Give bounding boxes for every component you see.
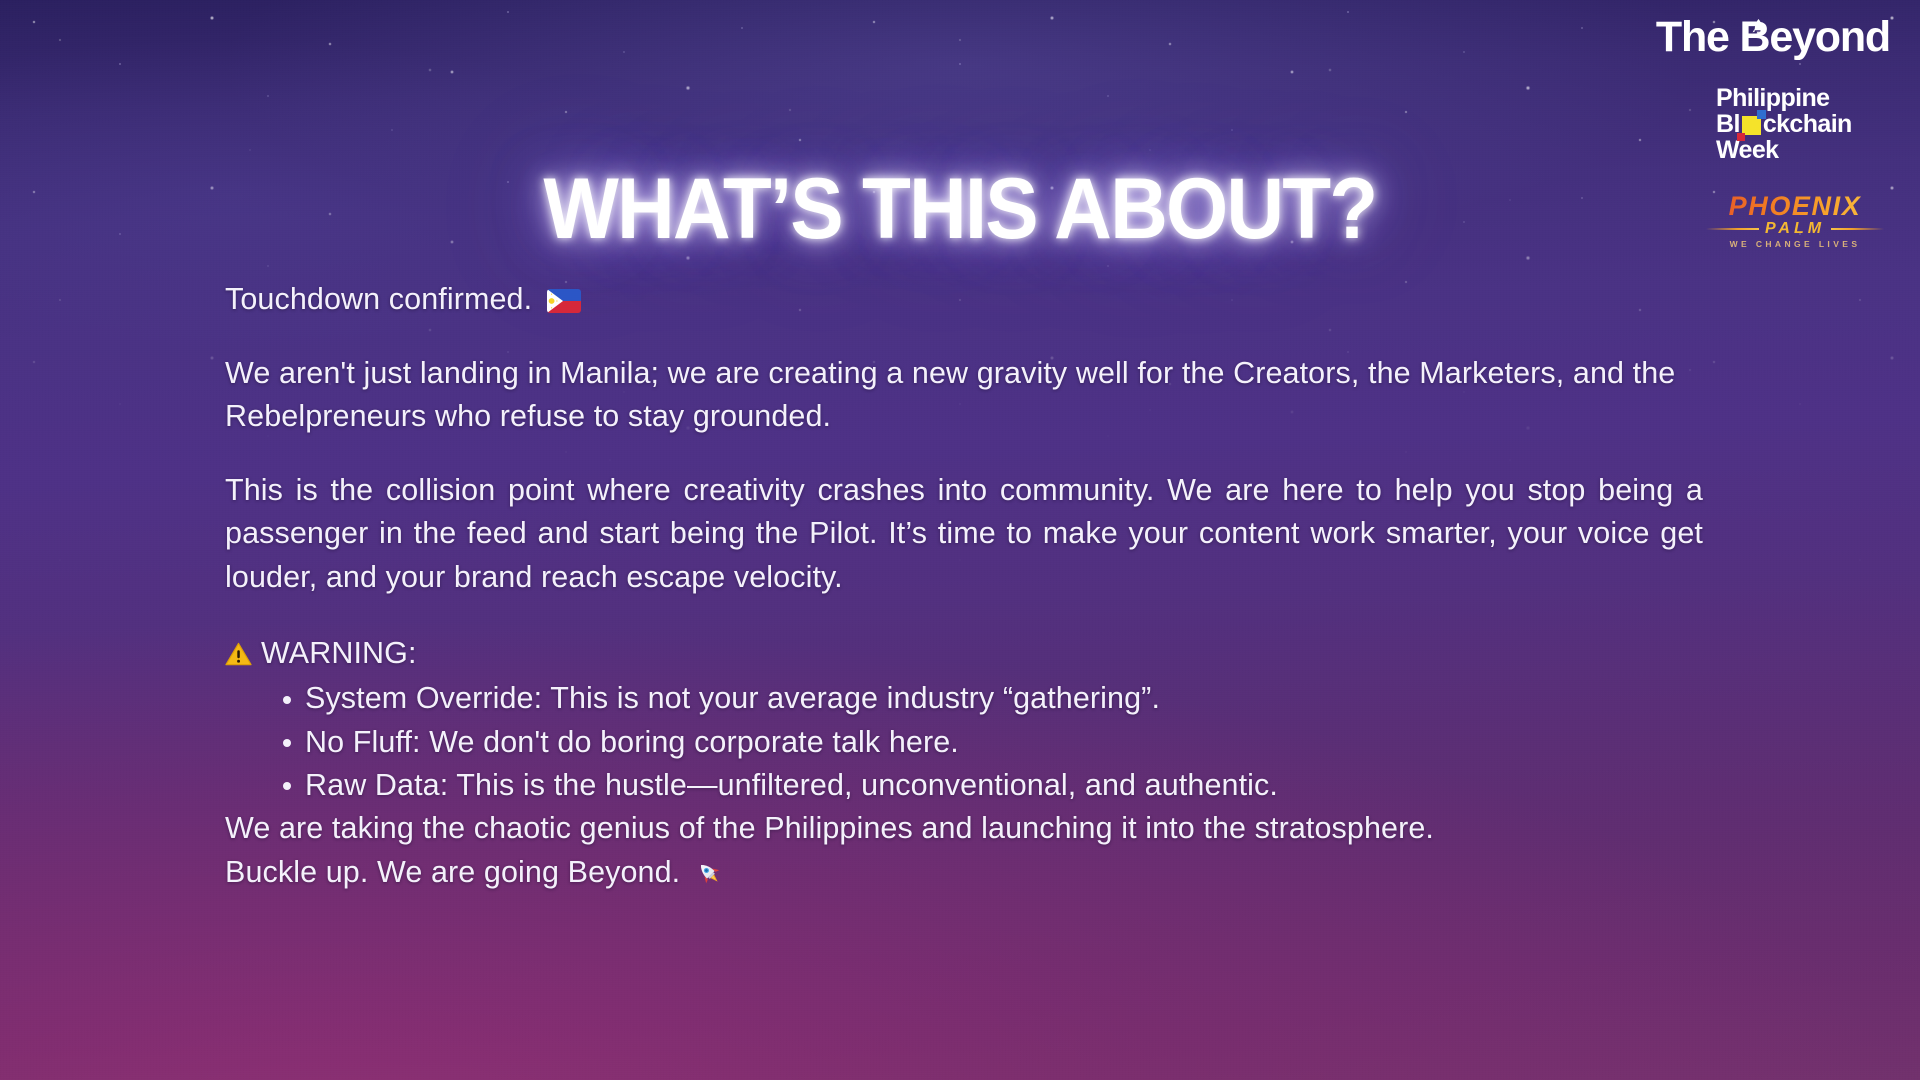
presentation-slide: The Beyond Philippine Bl ckchain Week PH… bbox=[0, 0, 1920, 1080]
warning-triangle-icon bbox=[225, 642, 252, 666]
phoenix-palm-logo: PHOENIX PALM WE CHANGE LIVES bbox=[1706, 193, 1884, 249]
list-item: Raw Data: This is the hustle—unfiltered,… bbox=[283, 764, 1703, 807]
pbw-flag-square-icon bbox=[1742, 116, 1761, 135]
warning-heading: WARNING: bbox=[225, 632, 1703, 676]
touchdown-text: Touchdown confirmed. bbox=[225, 282, 532, 316]
paragraph-collision-point: This is the collision point where creati… bbox=[225, 469, 1703, 600]
closing-line-1: We are taking the chaotic genius of the … bbox=[225, 811, 1434, 845]
phoenix-palm-row: PALM bbox=[1706, 221, 1884, 237]
slide-body-copy: Touchdown confirmed. We aren't just land… bbox=[225, 278, 1703, 894]
the-beyond-logo: The Beyond bbox=[1656, 16, 1892, 59]
closing-line-2: Buckle up. We are going Beyond. bbox=[225, 855, 680, 889]
brand-logo-stack: The Beyond Philippine Bl ckchain Week PH… bbox=[1662, 16, 1892, 249]
phoenix-rule-left bbox=[1706, 228, 1759, 230]
paragraph-landing-manila: We aren't just landing in Manila; we are… bbox=[225, 352, 1703, 439]
phoenix-tagline: WE CHANGE LIVES bbox=[1706, 240, 1884, 249]
philippine-blockchain-week-logo: Philippine Bl ckchain Week bbox=[1716, 85, 1888, 163]
pbw-ckchain-text: ckchain bbox=[1763, 111, 1852, 137]
pbw-line-philippine: Philippine bbox=[1716, 85, 1888, 111]
paragraph-closing: We are taking the chaotic genius of the … bbox=[225, 807, 1703, 894]
beyond-rocket-icon bbox=[1752, 3, 1765, 22]
slide-title: WHAT’S THIS ABOUT? bbox=[544, 166, 1377, 252]
phoenix-palm-wordmark: PALM bbox=[1765, 221, 1825, 237]
pbw-line-week: Week bbox=[1716, 137, 1888, 163]
pbw-line-blockchain: Bl ckchain bbox=[1716, 111, 1888, 137]
list-item: System Override: This is not your averag… bbox=[283, 677, 1703, 720]
rocket-icon bbox=[696, 860, 723, 887]
warning-bullet-list: System Override: This is not your averag… bbox=[225, 677, 1703, 807]
paragraph-touchdown: Touchdown confirmed. bbox=[225, 278, 1703, 322]
warning-block: WARNING: System Override: This is not yo… bbox=[225, 632, 1703, 808]
list-item: No Fluff: We don't do boring corporate t… bbox=[283, 721, 1703, 764]
phoenix-rule-right bbox=[1831, 228, 1884, 230]
the-beyond-wordmark: The Beyond bbox=[1656, 13, 1890, 61]
philippine-flag-icon bbox=[547, 289, 581, 313]
phoenix-wordmark: PHOENIX bbox=[1706, 193, 1884, 220]
warning-label: WARNING: bbox=[261, 632, 417, 676]
